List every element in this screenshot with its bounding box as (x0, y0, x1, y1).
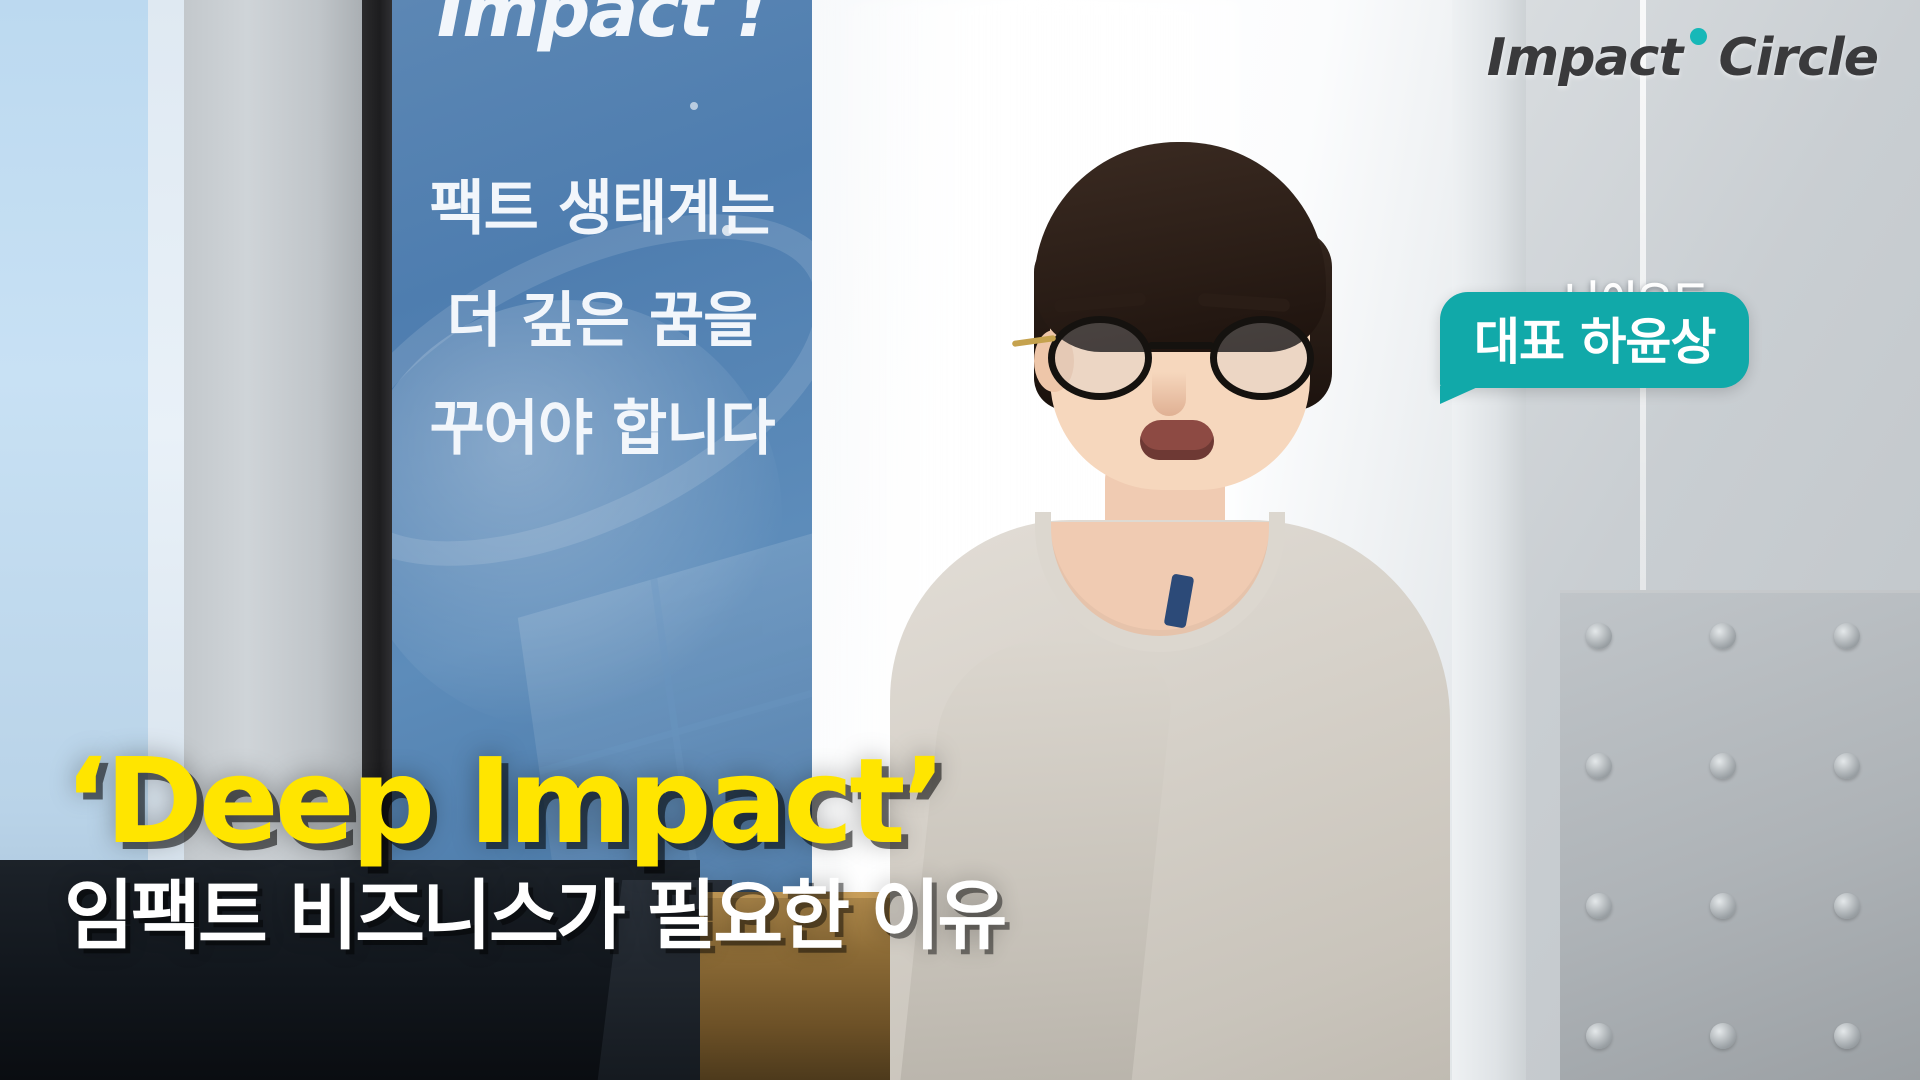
rivet-icon (1834, 893, 1860, 919)
speaker-name-badge: 대표 하윤상 (1440, 292, 1749, 388)
rivet-icon (1710, 623, 1736, 649)
banner-line-2: 더 깊은 꿈을 (392, 272, 812, 359)
glasses-bridge (1148, 342, 1214, 349)
banner-line-3: 꾸어야 합니다 (392, 380, 812, 467)
title-subline: 임팩트 비즈니스가 필요한 이유 (64, 876, 1004, 956)
rivet-icon (1710, 753, 1736, 779)
title-headline: ‘Deep Impact’ (64, 742, 1004, 860)
logo-word-circle: Circle (1718, 28, 1878, 88)
banner-line-1: 팩트 생태계는 (392, 160, 812, 247)
logo-word-impact: Impact (1487, 28, 1683, 88)
rivet-icon (1834, 623, 1860, 649)
rivet-icon (1586, 1023, 1612, 1049)
rivet-icon (1586, 753, 1612, 779)
rivet-icon (1710, 1023, 1736, 1049)
rivet-icon (1710, 893, 1736, 919)
rivet-icon (1586, 623, 1612, 649)
lens-right (1210, 316, 1314, 400)
nose (1152, 372, 1186, 416)
lens-left (1048, 316, 1152, 400)
banner-line-0: Impact ! (392, 0, 812, 54)
banner-dot-2-icon (690, 102, 698, 110)
title-block: ‘Deep Impact’ 임팩트 비즈니스가 필요한 이유 (64, 742, 1004, 956)
rivet-icon (1586, 893, 1612, 919)
riveted-wall-plate (1560, 590, 1920, 1080)
speaker-figure (930, 120, 1490, 1080)
brand-logo: Impact Circle (1487, 28, 1878, 88)
thumbnail-canvas: Impact ! 팩트 생태계는 더 깊은 꿈을 꾸어야 합니다 (0, 0, 1920, 1080)
rivet-icon (1834, 753, 1860, 779)
speaker-name-label: 대표 하윤상 (1474, 313, 1715, 371)
rivet-icon (1834, 1023, 1860, 1049)
mouth (1140, 420, 1214, 460)
